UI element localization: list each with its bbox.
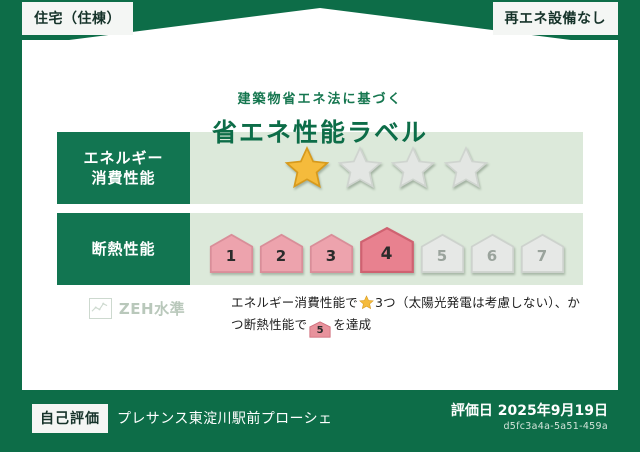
chip-renewable-energy: 再エネ設備なし (493, 2, 619, 35)
star-icon-filled (284, 145, 330, 191)
row-energy-label-line2: 消費性能 (91, 168, 155, 188)
grade-badge-value: 1 (226, 247, 236, 273)
star-icon-empty (390, 145, 436, 191)
grade-badge-value: 3 (326, 247, 336, 273)
energy-label-card: 住宅（住棟） 再エネ設備なし 建築物省エネ法に基づく 省エネ性能ラベル エネルギ… (0, 0, 640, 452)
grade-badge-2: 2 (259, 233, 304, 273)
grade-badge-value: 5 (437, 247, 447, 273)
note-description: エネルギー消費性能で3つ（太陽光発電は考慮しない）、かつ断熱性能で5を達成 (231, 292, 583, 338)
zeh-label: ZEH水準 (119, 298, 185, 319)
grade-badge-value: 7 (537, 247, 547, 273)
main-panel: 建築物省エネ法に基づく 省エネ性能ラベル エネルギー 消費性能 断熱性能 (22, 40, 618, 390)
grade-scale: 1234567 (209, 226, 565, 273)
star-icon-empty (337, 145, 383, 191)
grade-badge-value: 6 (487, 247, 497, 273)
star-icon-empty (443, 145, 489, 191)
row-insulation-label: 断熱性能 (57, 213, 190, 285)
grade-badge-3: 3 (309, 233, 354, 273)
title-subtitle: 建築物省エネ法に基づく (22, 88, 618, 107)
row-energy-label-line1: エネルギー (83, 148, 163, 168)
note-block: ZEH水準 エネルギー消費性能で3つ（太陽光発電は考慮しない）、かつ断熱性能で5… (57, 292, 583, 338)
chip-building-type: 住宅（住棟） (22, 2, 133, 35)
building-name: プレサンス東淀川駅前プローシェ (117, 408, 332, 428)
row-insulation-performance: 断熱性能 1234567 (57, 213, 583, 285)
footer-bar: 自己評価 プレサンス東淀川駅前プローシェ 評価日 2025年9月19日 d5fc… (22, 390, 618, 452)
row-insulation-label-line1: 断熱性能 (91, 239, 155, 259)
zeh-standard-marker: ZEH水準 (57, 292, 217, 319)
grade-badge-value: 4 (381, 244, 393, 273)
evaluation-date-label: 評価日 (451, 403, 493, 419)
star-rating (284, 145, 489, 191)
page-title: 省エネ性能ラベル (22, 113, 618, 149)
grade-badge-value: 2 (276, 247, 286, 273)
grade-badge-5: 5 (420, 233, 465, 273)
note-part3: を達成 (333, 317, 371, 332)
zeh-chart-icon (89, 298, 112, 319)
inline-grade-value: 5 (309, 321, 331, 341)
title-block: 建築物省エネ法に基づく 省エネ性能ラベル (22, 88, 618, 149)
performance-rows: エネルギー 消費性能 断熱性能 1234567 (57, 132, 583, 294)
grade-badge-6: 6 (470, 233, 515, 273)
grade-badge-1: 1 (209, 233, 254, 273)
note-part1: エネルギー消費性能で (231, 295, 358, 310)
evaluation-date-value: 2025年9月19日 (498, 403, 608, 419)
inline-grade-badge: 5 (309, 321, 331, 338)
footer-left: 自己評価 プレサンス東淀川駅前プローシェ (32, 404, 332, 433)
self-assessment-badge: 自己評価 (32, 404, 108, 433)
row-insulation-body: 1234567 (190, 213, 583, 285)
evaluation-date: 評価日 2025年9月19日 (451, 402, 608, 421)
grade-badge-4: 4 (359, 226, 415, 273)
evaluation-id: d5fc3a4a-5a51-459a (451, 421, 608, 434)
inline-star-icon (359, 295, 374, 310)
footer-right: 評価日 2025年9月19日 d5fc3a4a-5a51-459a (451, 402, 608, 434)
grade-badge-7: 7 (520, 233, 565, 273)
note-star-count: 3つ（太陽光発電 (375, 295, 472, 310)
